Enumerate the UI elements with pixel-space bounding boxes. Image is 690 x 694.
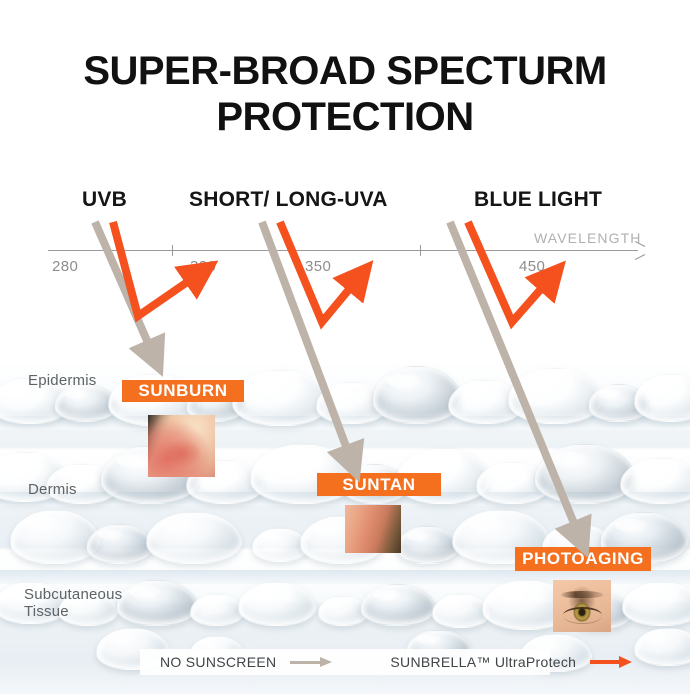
legend-item-no-sunscreen: NO SUNSCREEN (140, 654, 332, 670)
legend-arrow-orange-icon (590, 657, 632, 667)
legend-label-sunbrella: SUNBRELLA™ UltraProtech (390, 654, 576, 670)
arrow-head (619, 656, 632, 668)
axis-tick-320 (172, 245, 173, 256)
droplet (396, 526, 460, 564)
droplet (360, 584, 436, 626)
droplet (238, 582, 316, 626)
arrow-shaft (290, 661, 320, 664)
suntan-skin-photo (345, 505, 401, 553)
axis-tick-label-350: 350 (305, 258, 331, 275)
axis-tick-label-320: 320 (190, 258, 216, 275)
infographic-canvas: SUPER-BROAD SPECTURM PROTECTION UVB SHOR… (0, 0, 690, 694)
sunburn-skin-photo (148, 415, 215, 477)
axis-tick-label-450: 450 (519, 258, 545, 275)
legend-item-sunbrella: SUNBRELLA™ UltraProtech (332, 654, 632, 670)
axis-tick-label-280: 280 (52, 258, 78, 275)
title-line-1: SUPER-BROAD SPECTURM (83, 49, 606, 93)
arrow-shaft (590, 660, 620, 664)
band-label-uvb: UVB (82, 188, 127, 212)
title-line-2: PROTECTION (0, 94, 690, 140)
band-label-uva: SHORT/ LONG-UVA (189, 188, 388, 212)
droplet (622, 582, 690, 626)
axis-tick-400 (420, 245, 421, 256)
skin-layer-label-epidermis: Epidermis (28, 372, 97, 389)
effect-badge-photoaging: PHOTOAGING (515, 547, 651, 571)
skin-layer-label-dermis: Dermis (28, 481, 77, 498)
droplet (116, 580, 198, 626)
droplet (190, 594, 244, 626)
ray-uvb-sunbrella (113, 222, 196, 316)
droplet (534, 444, 636, 504)
photoaging-eye-photo (553, 580, 611, 632)
arrow-head (320, 657, 332, 667)
effect-badge-suntan: SUNTAN (317, 473, 441, 496)
wavelength-axis-line (48, 250, 638, 251)
droplet (634, 628, 690, 666)
page-title: SUPER-BROAD SPECTURM PROTECTION (0, 48, 690, 140)
effect-badge-sunburn: SUNBURN (122, 380, 244, 402)
band-label-blue-light: BLUE LIGHT (474, 188, 602, 212)
legend: NO SUNSCREEN SUNBRELLA™ UltraProtech (140, 649, 550, 675)
skin-layer-label-subcutaneous-tissue: Subcutaneous Tissue (24, 586, 122, 620)
droplet (86, 524, 154, 564)
ray-uvb-no-sunscreen (95, 222, 152, 352)
legend-label-no-sunscreen: NO SUNSCREEN (160, 654, 276, 670)
wavelength-caption: WAVELENGTH (534, 230, 641, 246)
droplet (146, 512, 242, 564)
droplet (10, 510, 100, 564)
legend-arrow-gray-icon (290, 657, 332, 667)
